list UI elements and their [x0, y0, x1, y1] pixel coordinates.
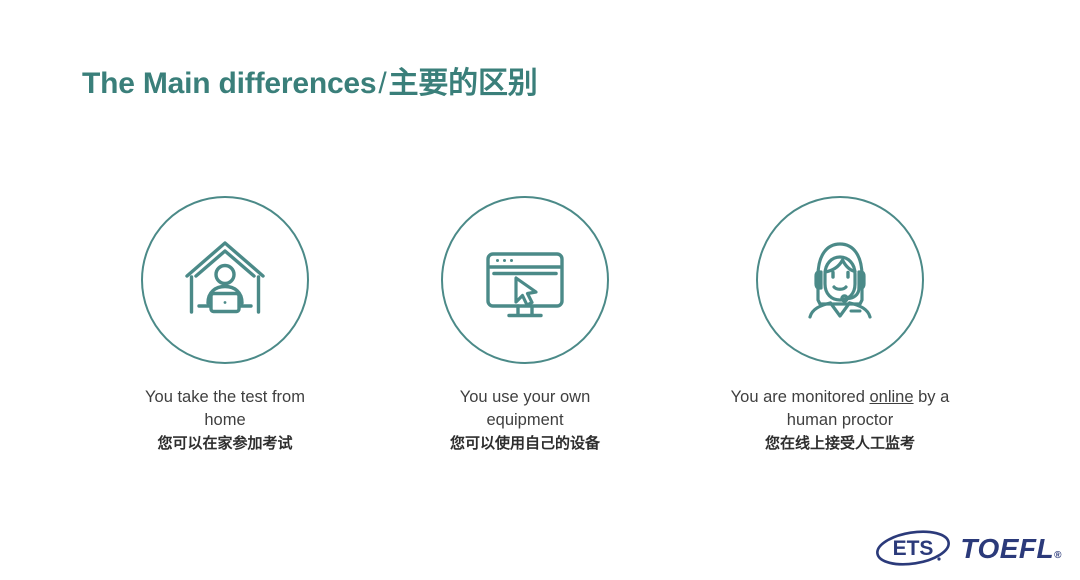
caption-home-chinese: 您可以在家参加考试 [125, 434, 325, 455]
feature-column-home: You take the test from home 您可以在家参加考试 [75, 196, 375, 454]
feature-column-proctor: You are monitored online by a human proc… [690, 196, 990, 454]
caption-home-english: You take the test from home [125, 386, 325, 432]
ets-logo-icon: ETS [874, 528, 952, 568]
caption-proctor-chinese: 您在线上接受人工监考 [715, 434, 965, 455]
page-title: The Main differences/主要的区别 [82, 66, 538, 102]
feature-columns: You take the test from home 您可以在家参加考试 [0, 196, 1080, 454]
caption-equipment-english-text: You use your own equipment [460, 388, 591, 429]
caption-equipment-english: You use your own equipment [440, 386, 610, 432]
icon-circle-proctor [756, 196, 924, 364]
house-home-office-icon [175, 230, 275, 330]
caption-home-english-text: You take the test from home [145, 388, 305, 429]
page-title-english: The Main differences [82, 67, 376, 100]
caption-proctor: You are monitored online by a human proc… [715, 386, 965, 454]
toefl-wordmark-text: TOEFL [960, 533, 1054, 564]
toefl-wordmark: TOEFL® [960, 535, 1062, 563]
caption-proctor-english-prefix: You are monitored [731, 388, 870, 406]
page-title-chinese: 主要的区别 [389, 67, 538, 100]
icon-circle-home [141, 196, 309, 364]
proctor-headset-person-icon [790, 230, 890, 330]
caption-home: You take the test from home 您可以在家参加考试 [125, 386, 325, 454]
page-title-separator: / [376, 67, 388, 100]
feature-column-equipment: You use your own equipment 您可以使用自己的设备 [375, 196, 675, 454]
caption-proctor-english: You are monitored online by a human proc… [715, 386, 965, 432]
toefl-registered-mark: ® [1054, 550, 1062, 561]
icon-circle-equipment [441, 196, 609, 364]
caption-equipment-chinese: 您可以使用自己的设备 [440, 434, 610, 455]
slide-canvas: The Main differences/主要的区别 [0, 0, 1080, 580]
ets-toefl-logo: ETS TOEFL® [874, 528, 1062, 568]
caption-proctor-english-online: online [870, 388, 914, 406]
svg-text:ETS: ETS [893, 537, 934, 560]
desktop-monitor-cursor-icon [475, 230, 575, 330]
caption-equipment: You use your own equipment 您可以使用自己的设备 [440, 386, 610, 454]
